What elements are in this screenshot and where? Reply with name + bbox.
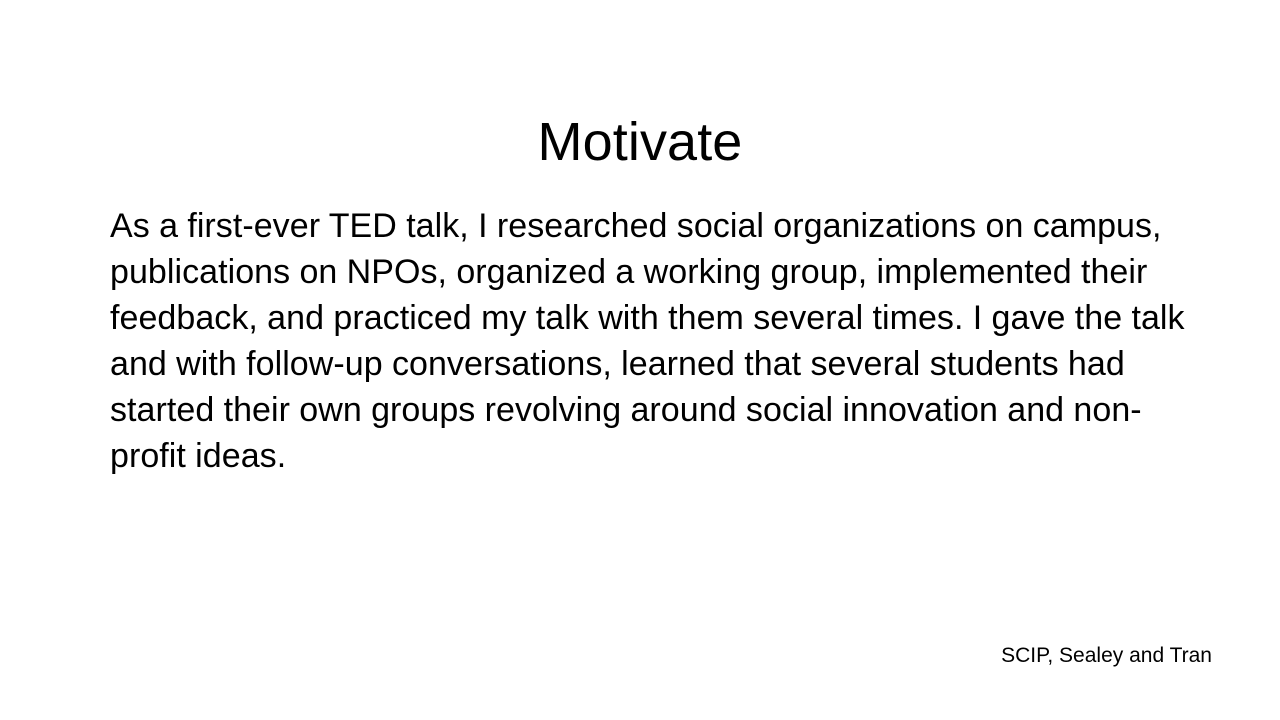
slide-body-placeholder: As a first-ever TED talk, I researched s… <box>110 203 1188 479</box>
slide-footer: SCIP, Sealey and Tran <box>64 643 1212 669</box>
presentation-slide: Motivate As a first-ever TED talk, I res… <box>0 0 1280 720</box>
slide-title: Motivate <box>64 110 1216 174</box>
body-paragraph: As a first-ever TED talk, I researched s… <box>110 203 1188 479</box>
